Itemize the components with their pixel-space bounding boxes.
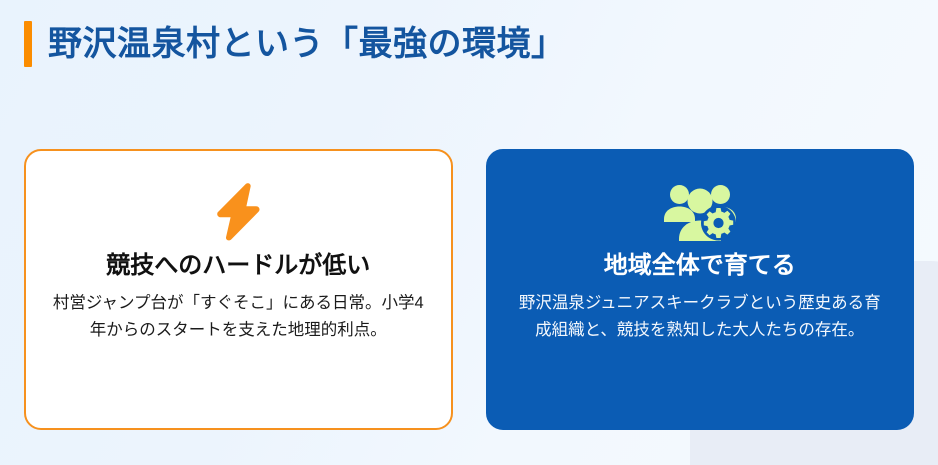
page-title: 野沢温泉村という「最強の環境」 xyxy=(48,26,566,63)
card-low-hurdle[interactable]: 競技へのハードルが低い 村営ジャンプ台が「すぐそこ」にある日常。小学4年からのス… xyxy=(24,149,453,430)
card-title: 地域全体で育てる xyxy=(604,251,796,281)
card-body: 野沢温泉ジュニアスキークラブという歴史ある育成組織と、競技を熟知した大人たちの存… xyxy=(514,290,886,343)
lightning-bolt-icon xyxy=(215,181,261,243)
people-with-gear-icon xyxy=(660,181,740,243)
card-grid: 競技へのハードルが低い 村営ジャンプ台が「すぐそこ」にある日常。小学4年からのス… xyxy=(24,149,914,430)
heading-accent-bar xyxy=(24,21,32,67)
card-title: 競技へのハードルが低い xyxy=(106,251,370,281)
card-body: 村営ジャンプ台が「すぐそこ」にある日常。小学4年からのスタートを支えた地理的利点… xyxy=(52,290,424,343)
card-community-raised[interactable]: 地域全体で育てる 野沢温泉ジュニアスキークラブという歴史ある育成組織と、競技を熟… xyxy=(486,149,915,430)
page-heading: 野沢温泉村という「最強の環境」 xyxy=(24,19,566,69)
slide-root: 野沢温泉村という「最強の環境」 競技へのハードルが低い 村営ジャンプ台が「すぐそ… xyxy=(0,0,938,465)
